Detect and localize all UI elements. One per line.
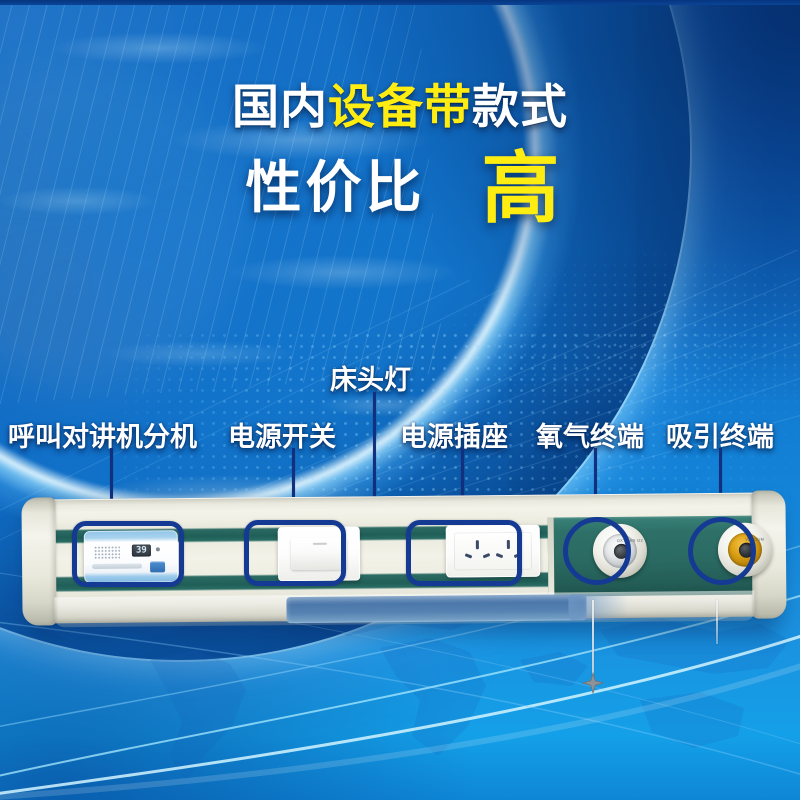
highlight-box-power-socket — [406, 520, 522, 586]
panel-end-cap-left — [21, 497, 56, 625]
pull-cord-secondary-icon[interactable] — [716, 600, 718, 644]
callout-label-oxygen-terminal: 氧气终端 — [536, 415, 644, 454]
highlight-box-power-switch — [244, 520, 346, 586]
headline-line-1: 国内设备带款式 — [0, 80, 800, 134]
callout-label-power-switch: 电源开关 — [228, 415, 336, 454]
headline-part-1: 国内 — [232, 80, 328, 133]
panel-lip-reflection — [286, 594, 586, 623]
headline-block: 国内设备带款式 性价比高 — [0, 80, 800, 220]
headline-emphasis: 高 — [481, 144, 560, 232]
panel-lip-reflection-fade — [568, 594, 628, 621]
headline-part-3: 款式 — [472, 80, 568, 133]
highlight-circle-oxygen-terminal — [563, 517, 631, 585]
headline-line-2: 性价比高 — [0, 148, 800, 220]
headline-subtitle: 性价比 — [245, 156, 425, 219]
headline-part-2: 设备带 — [328, 80, 472, 133]
callout-label-bed-lamp: 床头灯 — [330, 358, 411, 397]
bed-head-unit-photo: 39 OXYGEN O2 — [0, 480, 800, 680]
callout-label-power-socket: 电源插座 — [400, 415, 508, 454]
callout-label-nurse-call-intercom: 呼叫对讲机分机 — [8, 415, 197, 454]
pull-cord-icon[interactable] — [592, 600, 594, 678]
pull-cord-handle-icon[interactable] — [582, 672, 604, 694]
top-edge-band — [0, 0, 800, 5]
highlight-circle-suction-terminal — [688, 517, 756, 585]
highlight-box-nurse-call-intercom — [72, 521, 184, 587]
panel-green-plate-edge — [548, 518, 555, 597]
